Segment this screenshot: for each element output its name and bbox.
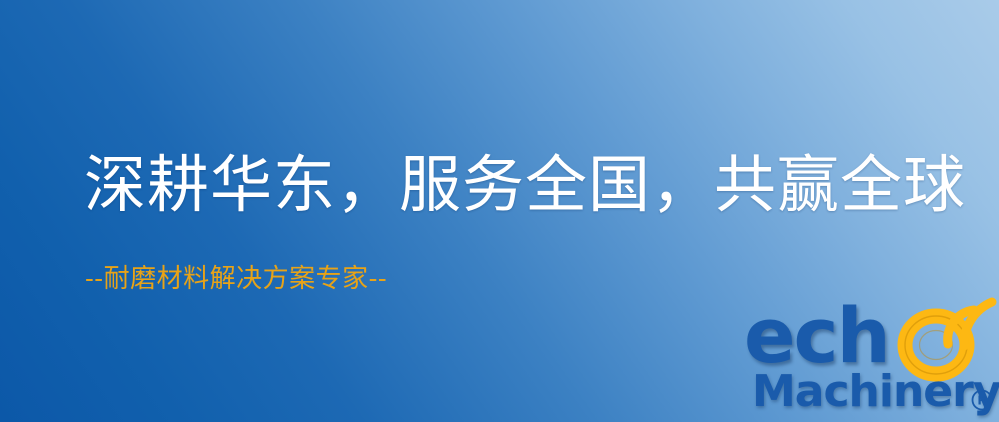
promo-banner: 深耕华东，服务全国，共赢全球 --耐磨材料解决方案专家-- ech Machin… — [0, 0, 999, 422]
signal-wave-icon — [934, 294, 999, 352]
svg-text:R: R — [977, 394, 986, 408]
banner-subtitle: --耐磨材料解决方案专家-- — [85, 264, 387, 295]
logo-brand-text: ech — [744, 298, 889, 374]
banner-headline: 深耕华东，服务全国，共赢全球 — [84, 152, 966, 219]
logo-tagline-text: Machinery — [752, 370, 999, 414]
registered-trademark-icon: R — [970, 388, 994, 412]
echo-machinery-logo: ech Machinery R — [738, 296, 999, 422]
